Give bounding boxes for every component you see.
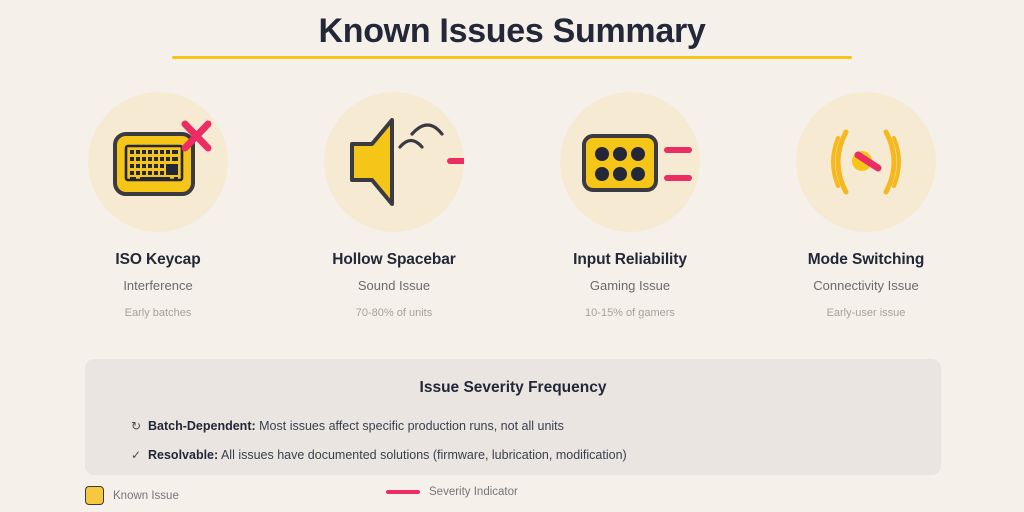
- card-title: Mode Switching: [808, 251, 925, 269]
- card-title: Input Reliability: [573, 251, 687, 269]
- severity-dash: [447, 158, 464, 164]
- issue-card[interactable]: Mode Switching Connectivity Issue Early-…: [748, 92, 984, 319]
- issue-card[interactable]: ISO Keycap Interference Early batches: [40, 92, 276, 319]
- keypad-dots-icon: [560, 92, 700, 232]
- keyboard-error-icon: [88, 92, 228, 232]
- header: Known Issues Summary: [0, 8, 1024, 54]
- issue-card[interactable]: Input Reliability Gaming Issue 10-15% of…: [512, 92, 748, 319]
- panel-row-label: Batch-Dependent:: [148, 419, 256, 433]
- panel-row: ↻ Batch-Dependent: Most issues affect sp…: [131, 419, 941, 433]
- legend-label: Severity Indicator: [429, 486, 518, 498]
- card-subtitle: Connectivity Issue: [813, 278, 919, 293]
- legend-label: Known Issue: [113, 490, 179, 502]
- issue-card[interactable]: Hollow Spacebar Sound Issue 70-80% of un…: [276, 92, 512, 319]
- refresh-icon: ↻: [131, 419, 148, 433]
- icon-circle: [796, 92, 936, 232]
- panel-row-label: Resolvable:: [148, 448, 218, 462]
- card-note: Early batches: [125, 307, 192, 319]
- issue-cards-row: ISO Keycap Interference Early batches Ho…: [40, 92, 984, 319]
- card-subtitle: Interference: [123, 278, 192, 293]
- panel-row-text: Resolvable: All issues have documented s…: [148, 448, 627, 462]
- panel-row-body: Most issues affect specific production r…: [256, 419, 564, 433]
- icon-circle: [88, 92, 228, 232]
- card-note: Early-user issue: [827, 307, 906, 319]
- speaker-sound-icon: [324, 92, 464, 232]
- yellow-square-swatch: [85, 486, 104, 505]
- icon-circle: [560, 92, 700, 232]
- severity-panel: Issue Severity Frequency ↻ Batch-Depende…: [85, 359, 941, 475]
- pink-line-swatch: [386, 490, 420, 493]
- page-title: Known Issues Summary: [0, 8, 1024, 54]
- card-note: 10-15% of gamers: [585, 307, 675, 319]
- card-title: ISO Keycap: [115, 251, 200, 269]
- infographic-page: Known Issues Summary: [0, 0, 1024, 512]
- title-underline-rule: [172, 56, 852, 59]
- card-subtitle: Sound Issue: [358, 278, 430, 293]
- legend: Known Issue Severity Indicator: [85, 486, 545, 506]
- panel-row: ✓ Resolvable: All issues have documented…: [131, 448, 941, 462]
- check-icon: ✓: [131, 448, 148, 462]
- panel-title: Issue Severity Frequency: [85, 379, 941, 397]
- icon-circle: [324, 92, 464, 232]
- panel-row-body: All issues have documented solutions (fi…: [218, 448, 627, 462]
- severity-dash: [664, 175, 692, 181]
- panel-row-text: Batch-Dependent: Most issues affect spec…: [148, 419, 564, 433]
- card-note: 70-80% of units: [356, 307, 432, 319]
- wireless-disconnected-icon: [796, 92, 936, 232]
- legend-item-known-issue: Known Issue: [85, 486, 179, 505]
- panel-list: ↻ Batch-Dependent: Most issues affect sp…: [85, 419, 941, 462]
- card-title: Hollow Spacebar: [332, 251, 455, 269]
- legend-item-severity-indicator: Severity Indicator: [386, 486, 518, 498]
- card-subtitle: Gaming Issue: [590, 278, 670, 293]
- severity-dash: [664, 147, 692, 153]
